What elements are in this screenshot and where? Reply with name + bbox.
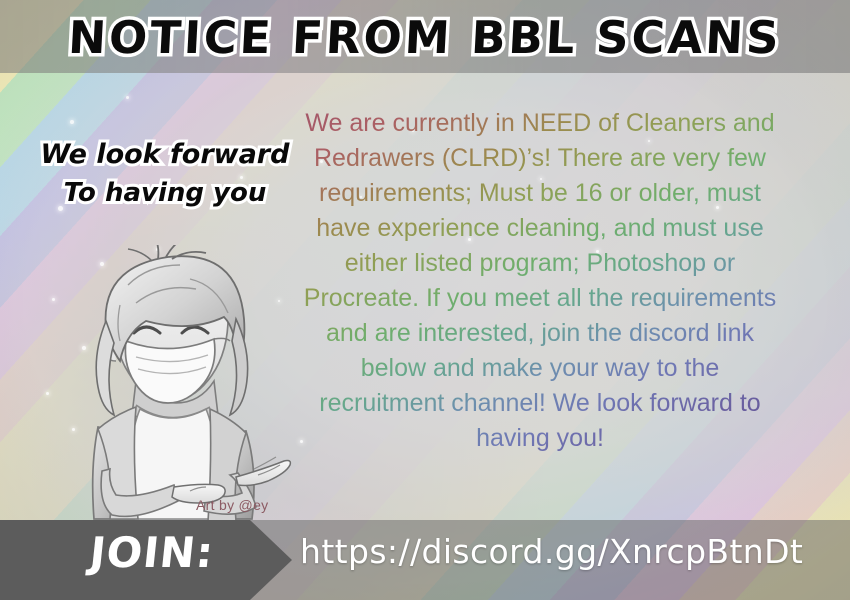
handwritten-line-1: We look forward (34, 136, 296, 174)
page-title: NOTICE FROM BBL SCANS (0, 6, 850, 68)
handwritten-note: We look forward To having you (34, 136, 296, 212)
notice-body-text: We are currently in NEED of Cleaners and… (300, 106, 780, 456)
handwritten-line-2: To having you (34, 174, 296, 212)
art-credit: Art by @ey (196, 497, 268, 513)
join-label: JOIN: (87, 528, 216, 577)
notice-poster: NOTICE FROM BBL SCANS We look forward To… (0, 0, 850, 600)
character-illustration (40, 245, 305, 520)
discord-invite-link[interactable]: https://discord.gg/XnrcpBtnDt (300, 532, 845, 571)
